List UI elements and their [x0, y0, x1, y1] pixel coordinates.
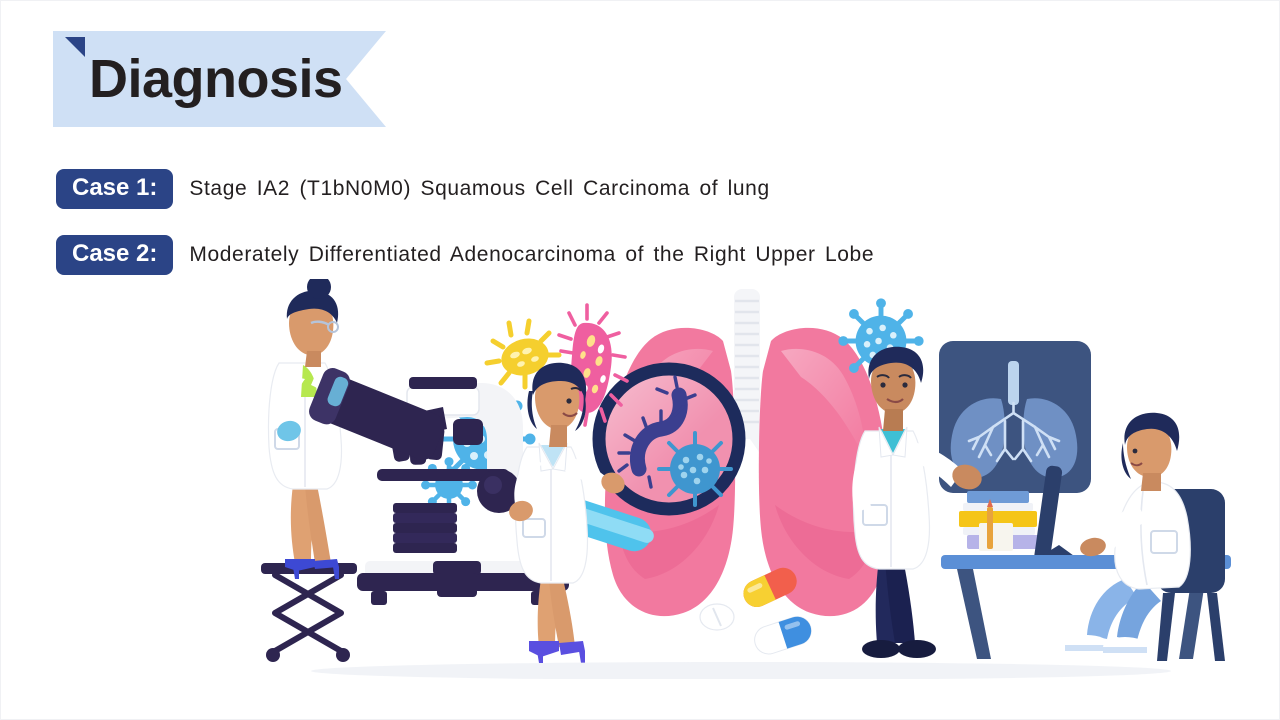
ground-shadow — [311, 662, 1171, 679]
case-row-1: Case 1: Stage IA2 (T1bN0M0) Squamous Cel… — [56, 169, 770, 209]
case-1-badge: Case 1: — [56, 169, 173, 209]
lab-stool — [261, 563, 357, 662]
case-2-text: Moderately Differentiated Adenocarcinoma… — [189, 243, 874, 267]
case-row-2: Case 2: Moderately Differentiated Adenoc… — [56, 235, 874, 275]
pill-tablet-white — [700, 604, 734, 630]
book-stack — [959, 491, 1043, 551]
case-1-text: Stage IA2 (T1bN0M0) Squamous Cell Carcin… — [189, 177, 769, 201]
pill-capsule-blue-white — [751, 613, 815, 658]
banner-corner-fold-icon — [65, 37, 85, 57]
page-title: Diagnosis — [89, 48, 343, 110]
case-2-badge: Case 2: — [56, 235, 173, 275]
magnified-virus — [659, 433, 731, 505]
title-banner: Diagnosis — [53, 31, 386, 127]
medical-illustration — [241, 279, 1246, 679]
slide: Diagnosis Case 1: Stage IA2 (T1bN0M0) Sq… — [0, 0, 1280, 720]
